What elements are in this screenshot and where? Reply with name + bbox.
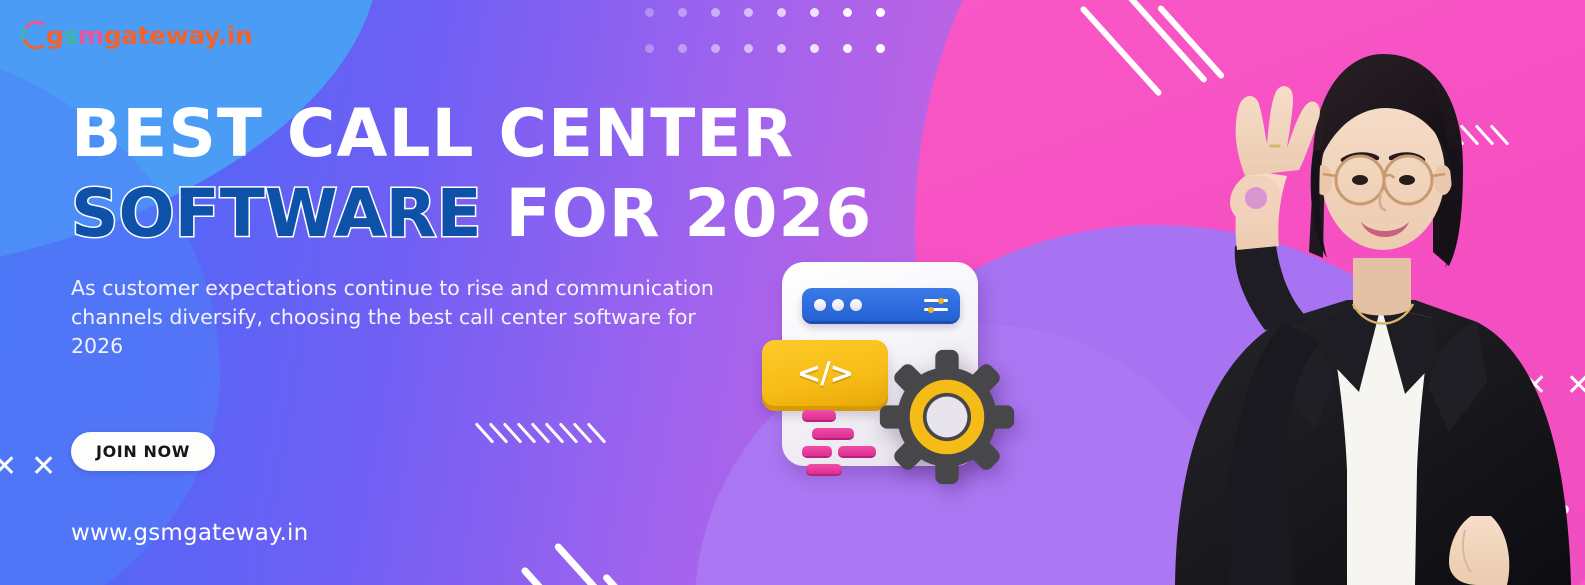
logo-wordmark: gsmgateway.in [46,21,252,50]
logo-arc-icon [18,18,52,52]
logo-letter-m: m [78,21,104,50]
x-mark-left-edge: ✕ [0,452,17,482]
titlebar-slider-top [924,299,948,302]
illustration-text-line-4 [806,464,842,474]
illustration-text-line-3a [802,446,832,456]
illustration-text-line-2 [812,428,854,438]
headline-line-1: BEST CALL CENTER [71,95,794,172]
headline-highlight-software: SOFTWARE [71,175,482,252]
logo-letter-s: s [64,21,78,50]
headline-line-2-rest: FOR 2026 [482,175,873,252]
diagonal-stroke-bl-3 [602,573,708,585]
diagonal-stroke-bl-1 [553,542,685,585]
x-mark-left: ✕ [31,452,56,482]
website-url[interactable]: www.gsmgateway.in [71,520,308,546]
illustration-text-line-3b [838,446,876,456]
illustration-titlebar [802,288,960,321]
page-title: BEST CALL CENTER SOFTWARE FOR 2026 [71,96,891,252]
code-window-gear-illustration: </> [758,258,1020,498]
gear-icon [874,344,1020,490]
person-photo [1115,0,1585,585]
titlebar-dot-2 [832,299,844,311]
brand-logo[interactable]: gsmgateway.in [18,18,252,52]
promo-banner: ✕ ✕ ✕ ✕ ✕ [0,0,1585,585]
illustration-code-block: </> [762,340,888,406]
illustration-text-line-1 [802,410,836,420]
titlebar-slider-bottom [924,308,948,311]
titlebar-dot-3 [850,299,862,311]
code-glyph: </> [797,356,853,390]
hatch-pattern-left [483,416,603,448]
join-now-button[interactable]: JOIN NOW [71,432,215,471]
logo-word-rest: gateway.in [104,21,253,50]
subheading-text: As customer expectations continue to ris… [71,274,716,361]
headline-line-2: SOFTWARE FOR 2026 [71,176,891,252]
titlebar-dot-1 [814,299,826,311]
